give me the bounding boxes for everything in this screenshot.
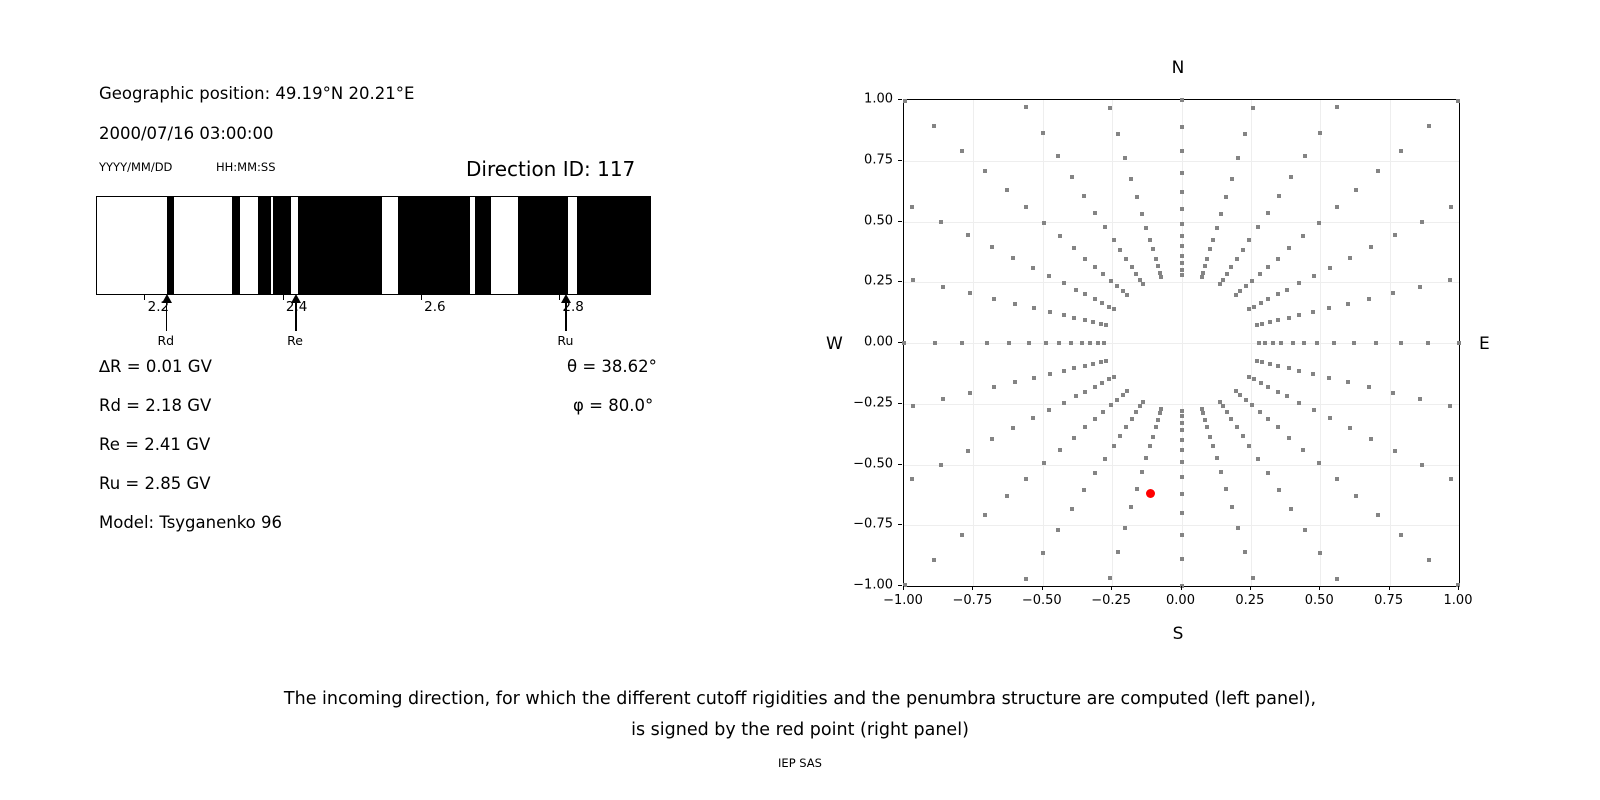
direction-dot: [1048, 310, 1052, 314]
direction-dot: [1354, 494, 1358, 498]
direction-dot: [1219, 470, 1223, 474]
direction-dot: [992, 297, 996, 301]
direction-dot: [941, 285, 945, 289]
arrow-up-icon: [561, 294, 571, 303]
direction-dot: [1072, 246, 1076, 250]
direction-dot: [1335, 477, 1339, 481]
direction-dot: [1312, 274, 1316, 278]
direction-dot: [1180, 261, 1184, 265]
y-axis-tick: [898, 221, 902, 222]
y-axis-tick-label: 0.75: [841, 152, 893, 167]
footer-credit: IEP SAS: [0, 756, 1600, 770]
direction-dot: [1056, 528, 1060, 532]
direction-dot: [1277, 488, 1281, 492]
direction-dot: [1180, 244, 1184, 248]
direction-dot: [1104, 323, 1108, 327]
direction-dot: [1236, 526, 1240, 530]
direction-dot: [1024, 205, 1028, 209]
direction-dot: [1093, 211, 1097, 215]
direction-dot: [1327, 306, 1331, 310]
direction-dot: [1024, 105, 1028, 109]
direction-dot: [1335, 105, 1339, 109]
direction-dot: [1268, 320, 1272, 324]
direction-id-text: Direction ID: 117: [466, 157, 635, 181]
direction-dot: [1393, 449, 1397, 453]
direction-dot: [1007, 341, 1011, 345]
direction-dot: [1011, 426, 1015, 430]
direction-dot: [1201, 411, 1205, 415]
direction-dot: [1218, 282, 1222, 286]
direction-dot: [1101, 272, 1105, 276]
direction-dot: [1011, 256, 1015, 260]
penumbra-forbidden-band: [475, 197, 491, 294]
direction-dot: [1005, 494, 1009, 498]
direction-dot: [1115, 284, 1119, 288]
direction-dot: [1335, 205, 1339, 209]
direction-dot: [1256, 225, 1260, 229]
direction-dot: [1367, 297, 1371, 301]
x-axis-tick: [1250, 586, 1251, 590]
direction-dot: [1125, 293, 1129, 297]
direction-dot: [1042, 221, 1046, 225]
direction-dot: [1332, 341, 1336, 345]
direction-dot: [1058, 448, 1062, 452]
direction-dot: [911, 404, 915, 408]
direction-dot: [1082, 194, 1086, 198]
direction-dot: [932, 558, 936, 562]
direction-dot: [1230, 177, 1234, 181]
direction-dot: [1074, 394, 1078, 398]
direction-dot: [1250, 403, 1254, 407]
x-axis-tick: [1181, 586, 1182, 590]
direction-dot: [1221, 404, 1225, 408]
direction-dot: [1311, 372, 1315, 376]
direction-dot: [1266, 385, 1270, 389]
direction-dot: [1297, 281, 1301, 285]
direction-dot: [1449, 477, 1453, 481]
x-axis-tick-label: 0.50: [1305, 593, 1334, 608]
direction-dot: [1244, 284, 1248, 288]
direction-dot: [1108, 106, 1112, 110]
direction-dot: [1048, 372, 1052, 376]
direction-dot: [1276, 390, 1280, 394]
direction-dot: [1138, 278, 1142, 282]
direction-dot: [1112, 307, 1116, 311]
x-axis-tick-label: −1.00: [883, 593, 923, 608]
direction-dot: [1449, 205, 1453, 209]
x-axis-tick: [972, 586, 973, 590]
direction-dot: [1158, 411, 1162, 415]
direction-dot: [1104, 359, 1108, 363]
direction-dot: [1263, 341, 1267, 345]
direction-dot: [1180, 409, 1184, 413]
direction-dot: [1247, 444, 1251, 448]
time-format-hint: HH:MM:SS: [216, 160, 276, 174]
direction-dot: [1215, 456, 1219, 460]
direction-dot: [1376, 169, 1380, 173]
direction-dot: [1457, 341, 1461, 345]
direction-dot: [1072, 366, 1076, 370]
direction-dot: [1096, 341, 1100, 345]
direction-dot: [1302, 341, 1306, 345]
direction-dot: [1266, 417, 1270, 421]
direction-dot: [1200, 275, 1204, 279]
direction-dot: [1027, 341, 1031, 345]
direction-dot: [1180, 428, 1184, 432]
direction-dot: [1215, 226, 1219, 230]
penumbra-forbidden-band: [258, 197, 271, 294]
direction-dot: [1180, 234, 1184, 238]
y-axis-tick-label: 0.00: [841, 335, 893, 350]
y-axis-tick: [898, 160, 902, 161]
direction-dot: [1072, 436, 1076, 440]
caption-line-1: The incoming direction, for which the di…: [0, 684, 1600, 715]
direction-dot: [1154, 425, 1158, 429]
direction-dot: [1118, 248, 1122, 252]
direction-dot: [1247, 307, 1251, 311]
direction-dot: [1080, 341, 1084, 345]
param-theta: θ = 38.62°: [567, 357, 657, 376]
direction-dot: [1112, 375, 1116, 379]
direction-dot: [1083, 364, 1087, 368]
direction-dot: [1236, 156, 1240, 160]
direction-dot: [1093, 471, 1097, 475]
x-axis-tick-label: 0.75: [1374, 593, 1403, 608]
direction-dot: [1180, 533, 1184, 537]
direction-dot: [1271, 341, 1275, 345]
direction-dot: [1180, 98, 1184, 102]
y-axis-tick-label: −1.00: [841, 578, 893, 593]
direction-dot: [910, 205, 914, 209]
direction-dot: [1100, 381, 1104, 385]
direction-dot: [1205, 425, 1209, 429]
direction-dot: [1099, 322, 1103, 326]
direction-dot: [1252, 305, 1256, 309]
direction-dot: [1287, 316, 1291, 320]
y-axis-tick-label: −0.25: [841, 395, 893, 410]
direction-dot: [1005, 188, 1009, 192]
direction-dot: [1224, 195, 1228, 199]
direction-dot: [1123, 526, 1127, 530]
direction-dot: [990, 437, 994, 441]
direction-dot: [1346, 302, 1350, 306]
direction-dot: [1156, 264, 1160, 268]
direction-dot: [902, 341, 906, 345]
direction-dot: [1124, 257, 1128, 261]
direction-dot: [1318, 131, 1322, 135]
direction-dot: [1234, 293, 1238, 297]
direction-dot: [1130, 417, 1134, 421]
direction-dot: [1083, 257, 1087, 261]
direction-dot: [1013, 302, 1017, 306]
direction-dot: [1154, 257, 1158, 261]
direction-dot: [1335, 577, 1339, 581]
direction-dot: [1418, 285, 1422, 289]
direction-dot: [1093, 385, 1097, 389]
direction-dot: [1062, 401, 1066, 405]
left-panel: Geographic position: 49.19°N 20.21°E 200…: [0, 0, 780, 660]
direction-dot: [1348, 426, 1352, 430]
direction-dot: [1115, 398, 1119, 402]
param-re: Re = 2.41 GV: [99, 435, 210, 454]
penumbra-axis-tick: [283, 295, 284, 300]
direction-dot: [1140, 212, 1144, 216]
direction-dot: [1062, 281, 1066, 285]
direction-dot: [1391, 291, 1395, 295]
direction-dot: [1427, 124, 1431, 128]
direction-dot: [1180, 222, 1184, 226]
direction-dot: [1042, 461, 1046, 465]
direction-dot: [1088, 341, 1092, 345]
compass-label-east: E: [1479, 334, 1490, 354]
direction-dot: [1256, 457, 1260, 461]
direction-dot: [1203, 264, 1207, 268]
penumbra-forbidden-band: [273, 197, 291, 294]
penumbra-forbidden-band: [167, 197, 175, 294]
direction-dot: [1225, 410, 1229, 414]
direction-dot: [1180, 254, 1184, 258]
direction-dot: [1311, 310, 1315, 314]
direction-dot: [1211, 444, 1215, 448]
direction-dot: [1070, 507, 1074, 511]
direction-dot: [968, 391, 972, 395]
direction-dot: [1200, 407, 1204, 411]
x-axis-tick-label: −0.75: [952, 593, 992, 608]
x-axis-tick-label: 0.00: [1166, 593, 1195, 608]
direction-dot: [1257, 341, 1261, 345]
direction-dot: [1108, 576, 1112, 580]
direction-dot: [960, 533, 964, 537]
direction-dot: [1399, 341, 1403, 345]
direction-dot: [1159, 407, 1163, 411]
direction-dot: [1205, 257, 1209, 261]
selected-direction-marker: [1146, 489, 1155, 498]
x-axis-tick: [1042, 586, 1043, 590]
direction-dot: [1317, 461, 1321, 465]
direction-dot: [1151, 435, 1155, 439]
direction-dot: [1047, 408, 1051, 412]
direction-dot: [1107, 305, 1111, 309]
rigidity-marker-label: Rd: [158, 333, 175, 348]
direction-dot: [1369, 437, 1373, 441]
direction-dot: [1229, 265, 1233, 269]
direction-dot: [1287, 436, 1291, 440]
direction-dot: [1112, 238, 1116, 242]
direction-dot: [1124, 425, 1128, 429]
direction-dot: [1083, 292, 1087, 296]
direction-dot: [985, 341, 989, 345]
x-axis-tick: [1111, 586, 1112, 590]
direction-dot: [1328, 266, 1332, 270]
penumbra-forbidden-band: [398, 197, 471, 294]
x-axis-tick: [1319, 586, 1320, 590]
y-axis-tick-label: −0.50: [841, 456, 893, 471]
y-axis-tick-label: 0.25: [841, 274, 893, 289]
direction-dot: [1099, 360, 1103, 364]
x-axis-tick: [1458, 586, 1459, 590]
direction-dot: [1448, 404, 1452, 408]
direction-dot: [1420, 463, 1424, 467]
direction-dot: [1103, 225, 1107, 229]
direction-dot: [941, 397, 945, 401]
direction-dot: [1276, 318, 1280, 322]
direction-dot: [1348, 256, 1352, 260]
direction-dot: [1297, 401, 1301, 405]
x-axis-tick: [1389, 586, 1390, 590]
direction-dot: [1219, 212, 1223, 216]
direction-dot: [1327, 376, 1331, 380]
arrow-up-icon: [291, 294, 301, 303]
direction-dot: [1056, 154, 1060, 158]
direction-dot: [1367, 385, 1371, 389]
direction-dot: [1041, 131, 1045, 135]
direction-dot: [1156, 418, 1160, 422]
y-axis-tick: [898, 585, 902, 586]
direction-dot: [1259, 301, 1263, 305]
direction-dot: [1317, 221, 1321, 225]
direction-dot: [1058, 234, 1062, 238]
direction-dot: [1243, 132, 1247, 136]
direction-dot: [966, 233, 970, 237]
direction-dot: [1354, 188, 1358, 192]
direction-dot: [1241, 434, 1245, 438]
direction-dot: [1044, 341, 1048, 345]
direction-dot: [911, 278, 915, 282]
direction-dot: [1062, 313, 1066, 317]
direction-dot: [1180, 421, 1184, 425]
direction-dot: [1244, 398, 1248, 402]
direction-dot: [1013, 380, 1017, 384]
direction-dot: [1221, 278, 1225, 282]
direction-dot: [1252, 377, 1256, 381]
y-axis-tick-label: 1.00: [841, 92, 893, 107]
direction-dot: [1129, 505, 1133, 509]
direction-dot: [1247, 238, 1251, 242]
direction-dot: [1031, 266, 1035, 270]
direction-dot: [1287, 366, 1291, 370]
direction-dot: [1391, 391, 1395, 395]
direction-dot: [1251, 106, 1255, 110]
param-phi: φ = 80.0°: [573, 396, 653, 415]
penumbra-axis-tick: [421, 295, 422, 300]
direction-dot: [1121, 289, 1125, 293]
direction-dot: [1180, 273, 1184, 277]
direction-dot: [1291, 341, 1295, 345]
direction-dot: [1208, 435, 1212, 439]
direction-dot: [1258, 272, 1262, 276]
direction-dot: [1225, 272, 1229, 276]
x-axis-tick: [903, 586, 904, 590]
direction-dot: [1180, 207, 1184, 211]
direction-dot: [968, 291, 972, 295]
direction-dot: [1180, 492, 1184, 496]
direction-dot: [1352, 341, 1356, 345]
direction-dot: [933, 341, 937, 345]
param-delta-r: ∆R = 0.01 GV: [99, 357, 212, 376]
direction-dot: [1448, 278, 1452, 282]
direction-dot: [1211, 238, 1215, 242]
direction-dot: [1121, 393, 1125, 397]
y-axis-tick: [898, 99, 902, 100]
direction-dot: [1203, 418, 1207, 422]
direction-dot: [939, 463, 943, 467]
right-panel: −1.00−0.75−0.50−0.250.000.250.500.751.00…: [800, 0, 1600, 660]
geographic-position-text: Geographic position: 49.19°N 20.21°E: [99, 84, 414, 103]
direction-dot: [1082, 488, 1086, 492]
direction-dot: [1102, 341, 1106, 345]
scatter-points-layer: [904, 100, 1459, 586]
y-axis-tick: [898, 281, 902, 282]
y-axis-tick: [898, 524, 902, 525]
direction-dot: [1148, 238, 1152, 242]
direction-dot: [1159, 275, 1163, 279]
direction-dot: [1180, 414, 1184, 418]
direction-dot: [1083, 425, 1087, 429]
direction-dot: [1399, 149, 1403, 153]
direction-dot: [1116, 132, 1120, 136]
direction-dot: [1158, 271, 1162, 275]
direction-dot: [1276, 364, 1280, 368]
direction-dot: [1238, 393, 1242, 397]
direction-dot: [1418, 397, 1422, 401]
direction-dot: [1250, 279, 1254, 283]
direction-dot: [1032, 306, 1036, 310]
direction-dot: [939, 220, 943, 224]
direction-dot: [983, 169, 987, 173]
direction-dot: [1109, 403, 1113, 407]
direction-dot: [1285, 394, 1289, 398]
direction-dot: [1297, 313, 1301, 317]
direction-dot: [1116, 550, 1120, 554]
direction-dot: [1180, 475, 1184, 479]
penumbra-forbidden-band: [232, 197, 240, 294]
direction-dot: [1255, 323, 1259, 327]
direction-dot: [1301, 448, 1305, 452]
direction-dot: [1420, 220, 1424, 224]
direction-dot: [960, 149, 964, 153]
direction-dot: [1180, 268, 1184, 272]
penumbra-forbidden-band: [518, 197, 568, 294]
direction-dot: [990, 245, 994, 249]
direction-dot: [1091, 320, 1095, 324]
direction-dot: [1180, 149, 1184, 153]
direction-dot: [1243, 550, 1247, 554]
direction-dot: [1456, 99, 1460, 103]
penumbra-forbidden-band: [577, 197, 650, 294]
direction-dot: [1118, 434, 1122, 438]
direction-dot: [1318, 551, 1322, 555]
direction-dot: [1374, 341, 1378, 345]
direction-dot: [1266, 297, 1270, 301]
direction-dot: [1180, 511, 1184, 515]
direction-dot: [1032, 376, 1036, 380]
direction-dot: [1180, 125, 1184, 129]
direction-dot: [1180, 438, 1184, 442]
arrow-up-icon: [162, 294, 172, 303]
param-rd: Rd = 2.18 GV: [99, 396, 211, 415]
direction-dot: [1276, 257, 1280, 261]
direction-dot: [983, 513, 987, 517]
direction-dot: [1276, 292, 1280, 296]
figure-caption: The incoming direction, for which the di…: [0, 684, 1600, 746]
direction-dot: [1140, 470, 1144, 474]
direction-dot: [1180, 557, 1184, 561]
penumbra-axis: 2.22.42.62.8RdReRu: [96, 295, 653, 355]
direction-dot: [1024, 477, 1028, 481]
direction-dot: [1109, 279, 1113, 283]
x-axis-tick-label: 1.00: [1444, 593, 1473, 608]
direction-dot: [1093, 417, 1097, 421]
